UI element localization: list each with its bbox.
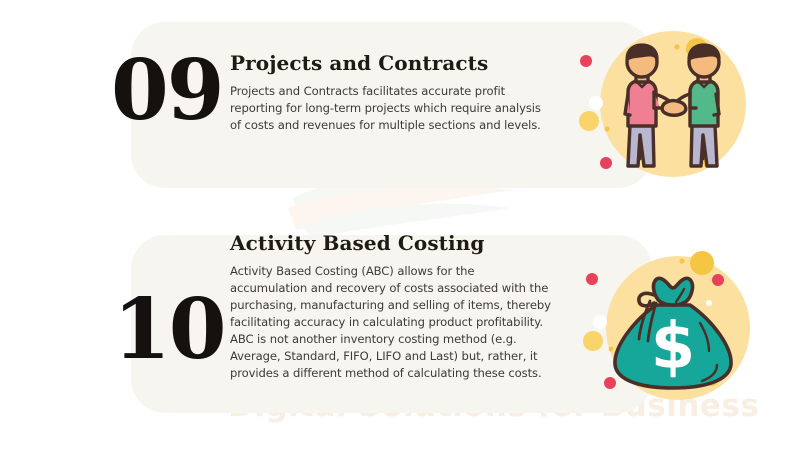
card-text-block-1: Projects and Contracts Projects and Cont… [230,52,545,134]
card-title-activity-based-costing: Activity Based Costing [230,232,552,254]
decor-dot-gold-tiny [674,44,679,49]
decor-dot-gold-micro [605,127,610,132]
slide-canvas: Greensoft Digital Solutions for Business… [0,0,800,457]
decor-dot-gold-large [690,251,714,275]
decor-dot-amber [583,331,603,351]
decor-dot-white [593,315,607,329]
handshake-two-people-icon [570,14,795,194]
decor-dot-white-tiny [706,300,712,306]
decor-dot-gold-tiny [679,258,684,263]
card-text-block-2: Activity Based Costing Activity Based Co… [230,232,552,381]
money-bag-dollar-icon: $ [578,243,800,423]
decor-dot-red-bottom [600,157,612,169]
decor-dot-amber [579,111,599,131]
card-number-09: 09 [111,49,223,132]
dollar-sign-glyph: $ [651,310,696,384]
decor-dot-gold-micro [609,347,614,352]
card-number-10: 10 [113,288,225,371]
decor-dot-red-left [586,273,598,285]
card-title-projects-and-contracts: Projects and Contracts [230,52,545,74]
card-body-projects-and-contracts: Projects and Contracts facilitates accur… [230,83,545,134]
decor-dot-red [712,274,724,286]
decor-dot-white [589,96,603,110]
decor-dot-red-bottom [604,377,616,389]
card-body-activity-based-costing: Activity Based Costing (ABC) allows for … [230,263,552,381]
decor-dot-red-left [580,55,592,67]
